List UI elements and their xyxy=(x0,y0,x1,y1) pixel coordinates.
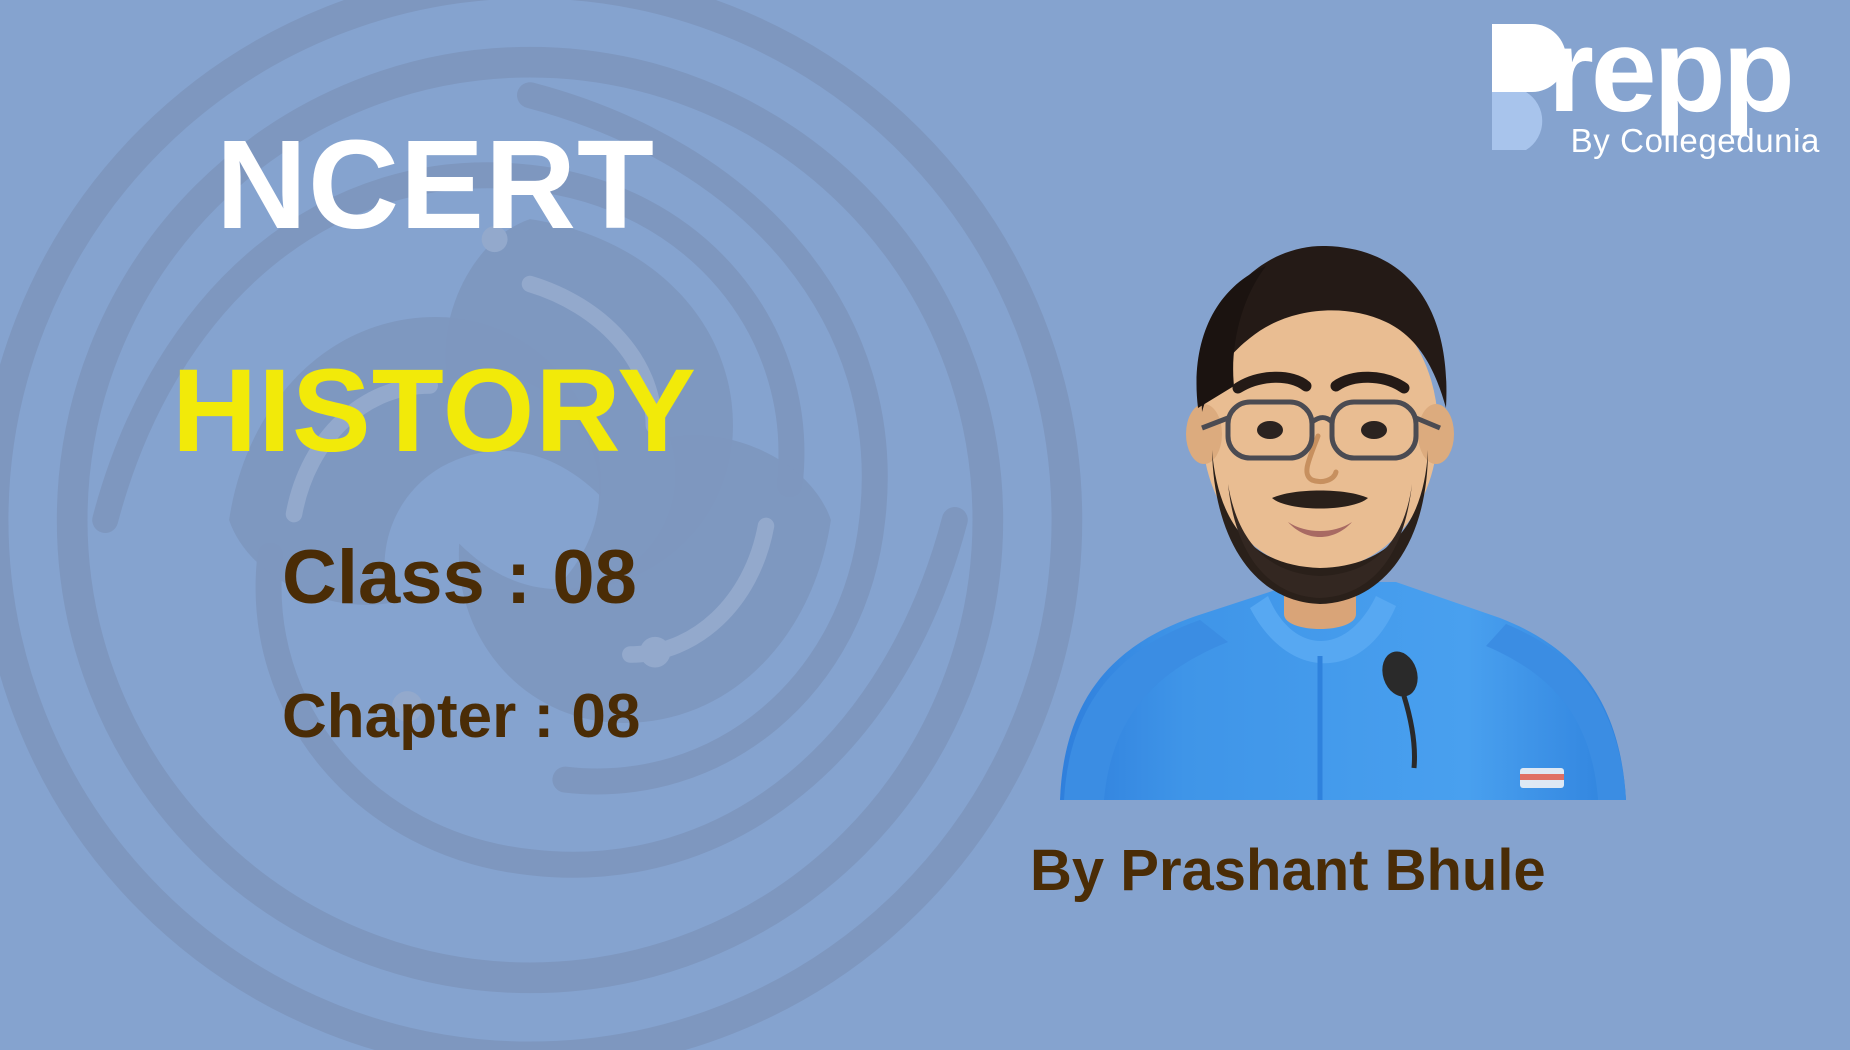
presenter-photo-frame xyxy=(1000,222,1640,800)
prepp-logo: repp By Collegedunia xyxy=(1492,16,1822,156)
logo-wordmark: repp xyxy=(1548,12,1792,130)
presenter-name: By Prashant Bhule xyxy=(1030,842,1546,900)
slide-root: repp By Collegedunia NCERT HISTORY Class… xyxy=(0,0,1850,1050)
chapter-label: Chapter : 08 xyxy=(282,686,640,748)
logo-tagline: By Collegedunia xyxy=(1571,124,1820,157)
class-label: Class : 08 xyxy=(282,540,637,616)
presenter-portrait xyxy=(1000,222,1640,800)
title-ncert: NCERT xyxy=(216,122,655,248)
title-subject: HISTORY xyxy=(172,352,697,470)
